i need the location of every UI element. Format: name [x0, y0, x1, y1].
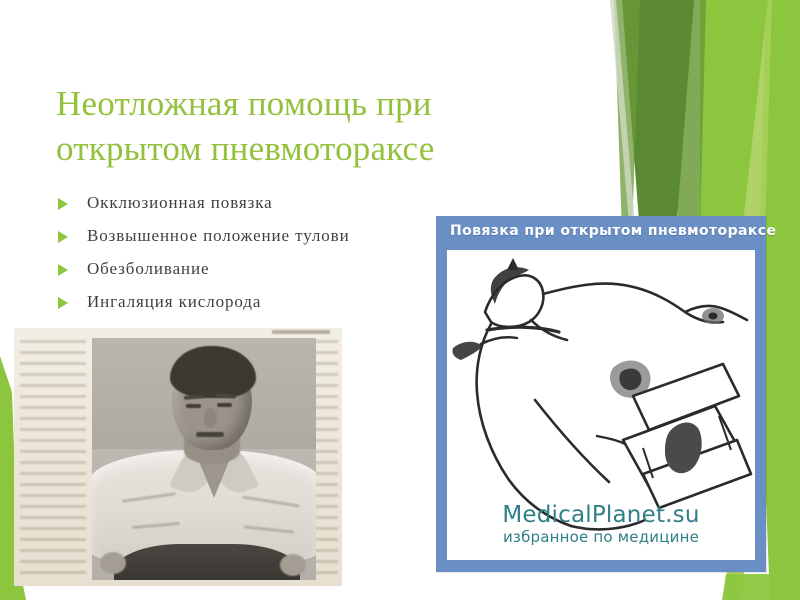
photo-hand	[280, 554, 306, 576]
drawing-landmark-core	[709, 313, 718, 320]
stripe-bright-mid	[700, 0, 768, 232]
drawing-pointer	[597, 436, 625, 444]
patient-photograph	[92, 338, 316, 580]
photo-trousers	[114, 544, 300, 580]
drawing-hair-tuft	[507, 258, 519, 270]
list-item: Ингаляция кислорода	[58, 291, 458, 324]
photo-hand	[100, 552, 126, 574]
triangle-right-icon	[58, 264, 68, 276]
list-item: Возвышенное положение тулови	[58, 225, 458, 258]
drawing-chest-wound-core	[619, 369, 641, 391]
list-item-label: Обезболивание	[87, 258, 209, 280]
scan-text-column	[20, 340, 86, 576]
scanned-book-page	[14, 328, 342, 586]
drawing-shadow-stroke	[481, 337, 517, 344]
bullet-list: Окклюзионная повязка Возвышенное положен…	[58, 192, 458, 324]
list-item: Обезболивание	[58, 258, 458, 291]
list-item-label: Окклюзионная повязка	[87, 192, 273, 214]
illustration-canvas: MedicalPlanet.su избранное по медицине	[447, 250, 755, 560]
page-title-line-1: Неотложная помощь при	[56, 81, 636, 126]
illustration-header-label: Повязка при открытом пневмотораксе	[450, 223, 776, 239]
drawing-hair	[491, 267, 529, 304]
page-title-line-2: открытом пневмотораксе	[56, 126, 636, 171]
illustration-panel: Повязка при открытом пневмотораксе	[436, 216, 766, 572]
list-item-label: Возвышенное положение тулови	[87, 225, 350, 247]
page-title: Неотложная помощь при открытом пневмотор…	[56, 81, 636, 171]
photo-eye	[217, 403, 232, 407]
stripe-bottom-sliver	[722, 574, 800, 600]
triangle-right-icon	[58, 297, 68, 309]
scan-page-header-mark	[272, 330, 330, 334]
photo-nose	[204, 408, 217, 428]
drawing-torso-top	[543, 284, 723, 323]
list-item-label: Ингаляция кислорода	[87, 291, 261, 313]
stripe-green-mid	[676, 0, 706, 232]
photo-eye	[186, 404, 201, 408]
drawing-hip	[571, 520, 645, 529]
drawing-clavicle-line	[487, 327, 559, 332]
triangle-right-icon	[58, 231, 68, 243]
list-item: Окклюзионная повязка	[58, 192, 458, 225]
illustration-header: Повязка при открытом пневмотораксе	[436, 216, 766, 246]
slide: Неотложная помощь при открытом пневмотор…	[0, 0, 800, 600]
photo-mouth	[196, 432, 224, 437]
drawing-forearm	[535, 400, 609, 482]
triangle-right-icon	[58, 198, 68, 210]
